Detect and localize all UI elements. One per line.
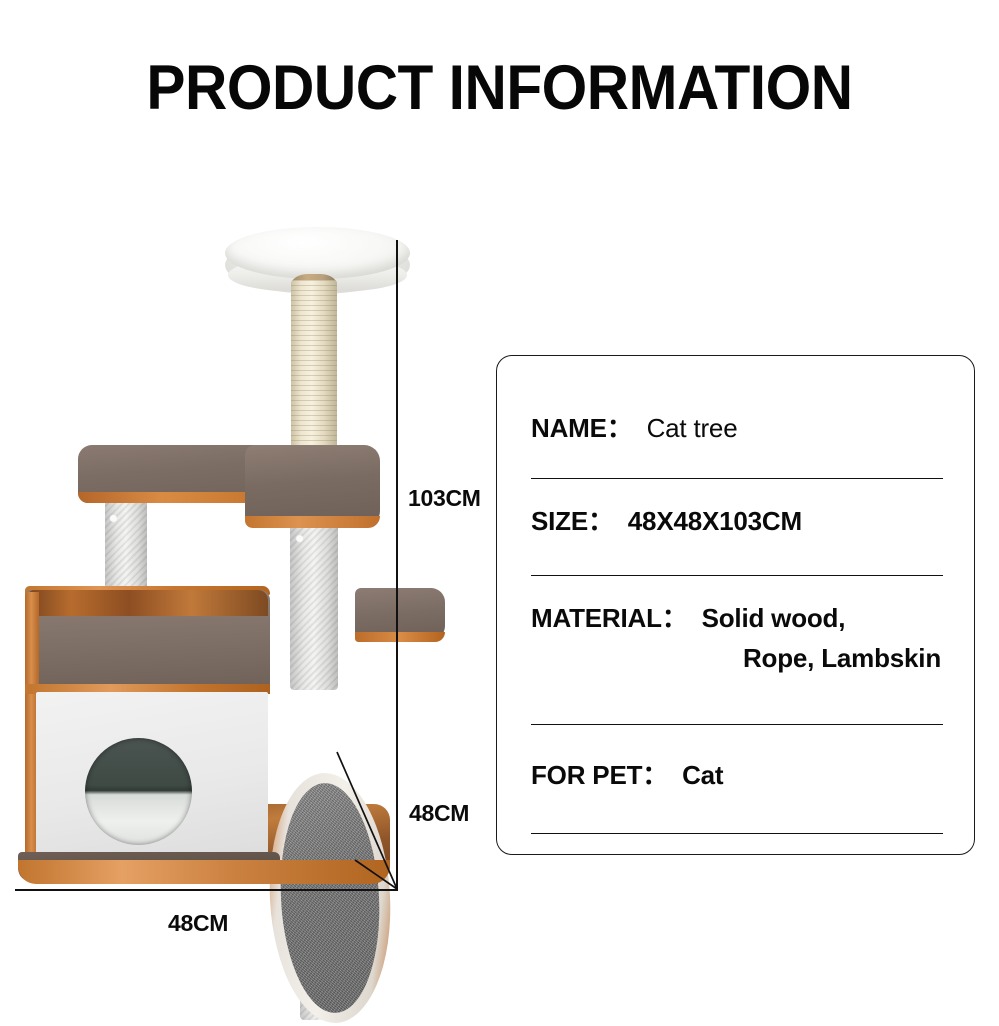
page-title: PRODUCT INFORMATION [35, 52, 964, 124]
info-value-material: Solid wood, [702, 603, 846, 634]
info-label-for-pet: FOR PET： [531, 755, 668, 792]
info-label-size: SIZE： [531, 501, 614, 538]
dimension-label-depth: 48CM [409, 800, 469, 827]
info-value-material-line2: Rope, Lambskin [531, 643, 943, 674]
page-root: PRODUCT INFORMATION [0, 0, 999, 999]
info-row-for-pet: FOR PET： Cat [531, 725, 943, 834]
info-value-size: 48X48X103CM [628, 506, 802, 537]
dimension-line-horizontal [15, 889, 398, 891]
condo-entry-hole [85, 738, 192, 845]
plush-perch [225, 227, 410, 279]
product-photo [0, 200, 470, 920]
product-info-panel: NAME： Cat tree SIZE： 48X48X103CM MATERIA… [496, 355, 975, 855]
mid-platform-right-edge [245, 516, 380, 528]
dimension-line-vertical [396, 240, 398, 890]
info-label-name: NAME： [531, 408, 633, 445]
info-rows: NAME： Cat tree SIZE： 48X48X103CM MATERIA… [531, 396, 943, 834]
info-row-size: SIZE： 48X48X103CM [531, 479, 943, 576]
mid-platform-right [245, 445, 380, 527]
base-front-edge [18, 860, 390, 884]
lambskin-post-right [290, 518, 338, 690]
dimension-label-width: 48CM [168, 910, 228, 937]
condo-top-wood [28, 590, 268, 616]
info-label-material: MATERIAL： [531, 598, 688, 635]
info-row-name: NAME： Cat tree [531, 396, 943, 479]
right-shelf-edge [355, 632, 445, 642]
info-row-material: MATERIAL： Solid wood, Rope, Lambskin [531, 576, 943, 725]
info-value-for-pet: Cat [682, 760, 723, 791]
info-value-name: Cat tree [647, 413, 738, 444]
dimension-label-height: 103CM [408, 485, 481, 512]
